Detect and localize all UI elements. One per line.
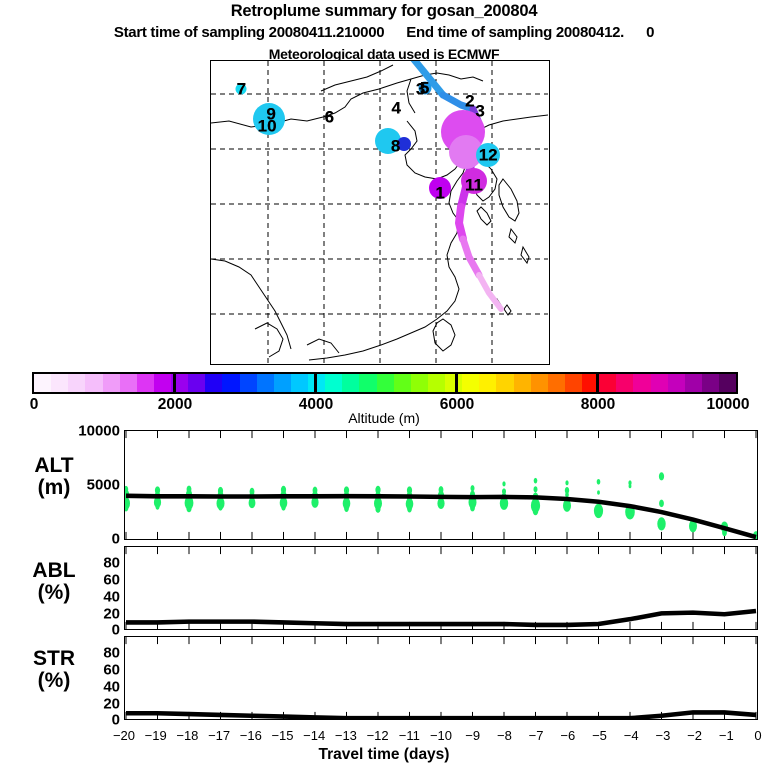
abl-panel[interactable] xyxy=(124,546,758,630)
str-ytick-20: 20 xyxy=(68,696,120,713)
x-tick-0: −20 xyxy=(113,728,135,743)
colorbar-swatch-19 xyxy=(359,374,376,392)
colorbar-swatch-39 xyxy=(702,374,719,392)
alt-panel[interactable] xyxy=(124,430,758,540)
colorbar-swatch-3 xyxy=(85,374,102,392)
colorbar-swatch-2 xyxy=(68,374,85,392)
colorbar-swatch-35 xyxy=(633,374,650,392)
alt-scatter-point xyxy=(470,504,475,512)
map-marker-3b[interactable]: 3 xyxy=(416,80,425,97)
colorbar-swatch-14 xyxy=(274,374,291,392)
altitude-colorbar[interactable] xyxy=(32,372,738,394)
abl-ytick-80: 80 xyxy=(68,555,120,572)
map-marker-8[interactable]: 8 xyxy=(391,137,400,154)
abl-plot xyxy=(125,547,757,629)
end-time-label: End time of sampling 20080412. xyxy=(406,24,624,41)
alt-scatter-point xyxy=(502,481,505,486)
str-ytick-80: 80 xyxy=(68,645,120,662)
colorbar-swatch-12 xyxy=(240,374,257,392)
x-tick-5: −15 xyxy=(271,728,293,743)
colorbar-swatch-26 xyxy=(479,374,496,392)
colorbar-separator xyxy=(314,372,317,394)
colorbar-swatch-27 xyxy=(496,374,513,392)
alt-scatter-point xyxy=(375,505,380,513)
colorbar-swatch-0 xyxy=(34,374,51,392)
x-tick-3: −17 xyxy=(208,728,230,743)
colorbar-swatch-7 xyxy=(154,374,171,392)
x-tick-10: −10 xyxy=(430,728,452,743)
alt-scatter-point xyxy=(344,504,349,512)
colorbar-swatch-33 xyxy=(599,374,616,392)
colorbar-swatch-13 xyxy=(257,374,274,392)
x-tick-16: −4 xyxy=(624,728,639,743)
str-ytick-60: 60 xyxy=(68,662,120,679)
x-tick-15: −5 xyxy=(592,728,607,743)
alt-scatter-point xyxy=(186,504,191,512)
alt-ytick-0: 0 xyxy=(68,531,120,548)
alt-scatter-point xyxy=(629,484,632,488)
x-axis-title: Travel time (days) xyxy=(0,746,768,764)
str-ytick-0: 0 xyxy=(68,712,120,729)
colorbar-swatch-25 xyxy=(462,374,479,392)
colorbar-swatch-30 xyxy=(548,374,565,392)
map-marker-2[interactable]: 2 xyxy=(465,92,474,109)
x-tick-13: −7 xyxy=(529,728,544,743)
colorbar-swatch-38 xyxy=(685,374,702,392)
abl-ytick-40: 40 xyxy=(68,589,120,606)
map-marker-7[interactable]: 7 xyxy=(237,81,246,98)
alt-scatter-point xyxy=(597,490,600,494)
map-marker-11[interactable]: 11 xyxy=(465,177,483,194)
alt-scatter-point xyxy=(218,504,222,511)
alt-scatter-point xyxy=(281,504,285,511)
x-tick-11: −9 xyxy=(465,728,480,743)
x-tick-8: −12 xyxy=(367,728,389,743)
alt-scatter-point xyxy=(657,517,665,530)
colorbar-separator xyxy=(455,372,458,394)
x-tick-20: 0 xyxy=(754,728,761,743)
alt-ytick-5000: 5000 xyxy=(68,477,120,494)
colorbar-swatch-18 xyxy=(342,374,359,392)
colorbar-swatch-5 xyxy=(120,374,137,392)
x-tick-17: −3 xyxy=(655,728,670,743)
retroplume-map[interactable]: 1 2 3 4 5 6 7 8 9 10 11 12 3 xyxy=(210,60,550,365)
x-tick-18: −2 xyxy=(687,728,702,743)
colorbar-swatch-28 xyxy=(514,374,531,392)
colorbar-swatch-23 xyxy=(428,374,445,392)
map-marker-4[interactable]: 4 xyxy=(391,99,400,116)
start-time-label: Start time of sampling 20080411.210000 xyxy=(114,24,384,41)
x-tick-2: −18 xyxy=(176,728,198,743)
colorbar-swatch-21 xyxy=(394,374,411,392)
colorbar-swatch-1 xyxy=(51,374,68,392)
alt-scatter-point xyxy=(155,503,159,509)
map-marker-1[interactable]: 1 xyxy=(435,184,444,201)
str-ytick-40: 40 xyxy=(68,679,120,696)
page-title: Retroplume summary for gosan_200804 xyxy=(0,2,768,21)
alt-scatter-point xyxy=(533,486,537,492)
alt-scatter-point xyxy=(659,472,664,480)
x-tick-19: −1 xyxy=(719,728,734,743)
colorbar-separator xyxy=(173,372,176,394)
x-tick-9: −11 xyxy=(399,728,420,743)
colorbar-swatch-24 xyxy=(445,374,462,392)
sampling-time-row: Start time of sampling 20080411.210000 E… xyxy=(0,24,768,41)
colorbar-separator xyxy=(596,372,599,394)
colorbar-swatch-37 xyxy=(668,374,685,392)
x-tick-4: −16 xyxy=(240,728,262,743)
colorbar-swatch-10 xyxy=(205,374,222,392)
map-marker-10[interactable]: 10 xyxy=(258,118,277,135)
alt-scatter-point xyxy=(534,478,538,484)
str-panel[interactable] xyxy=(124,636,758,720)
map-marker-12[interactable]: 12 xyxy=(479,146,498,163)
colorbar-swatch-22 xyxy=(411,374,428,392)
alt-scatter-point xyxy=(470,485,474,491)
abl-ytick-20: 20 xyxy=(68,606,120,623)
alt-scatter-point xyxy=(659,500,664,508)
alt-ytick-10000: 10000 xyxy=(68,423,120,440)
colorbar-swatch-11 xyxy=(222,374,239,392)
alt-label-line1: ALT xyxy=(6,455,102,477)
alt-scatter-point xyxy=(407,505,412,513)
alt-scatter-point xyxy=(597,479,601,485)
x-tick-12: −8 xyxy=(497,728,512,743)
colorbar-swatch-34 xyxy=(616,374,633,392)
colorbar-swatch-20 xyxy=(377,374,394,392)
alt-scatter-point xyxy=(437,498,444,509)
end-time-value: 0 xyxy=(646,24,654,41)
x-tick-7: −13 xyxy=(335,728,357,743)
alt-scatter-point xyxy=(594,504,603,518)
abl-ytick-0: 0 xyxy=(68,622,120,639)
x-tick-6: −14 xyxy=(303,728,325,743)
colorbar-swatch-17 xyxy=(325,374,342,392)
colorbar-swatch-36 xyxy=(651,374,668,392)
colorbar-swatch-31 xyxy=(565,374,582,392)
colorbar-swatch-9 xyxy=(188,374,205,392)
abl-ytick-60: 60 xyxy=(68,572,120,589)
map-marker-6[interactable]: 6 xyxy=(325,109,334,126)
x-tick-1: −19 xyxy=(145,728,167,743)
colorbar-swatch-29 xyxy=(531,374,548,392)
colorbar-swatch-4 xyxy=(103,374,120,392)
alt-scatter-points xyxy=(125,472,757,539)
colorbar-swatch-6 xyxy=(137,374,154,392)
colorbar-swatch-15 xyxy=(291,374,308,392)
map-marker-3[interactable]: 3 xyxy=(475,103,484,120)
alt-scatter-point xyxy=(565,480,568,485)
alt-plot xyxy=(125,431,757,539)
str-plot xyxy=(125,637,757,719)
colorbar-swatch-40 xyxy=(719,374,736,392)
alt-scatter-point xyxy=(249,498,256,509)
alt-scatter-point xyxy=(533,507,539,516)
colorbar-swatch-16 xyxy=(308,374,325,392)
x-tick-14: −6 xyxy=(560,728,575,743)
